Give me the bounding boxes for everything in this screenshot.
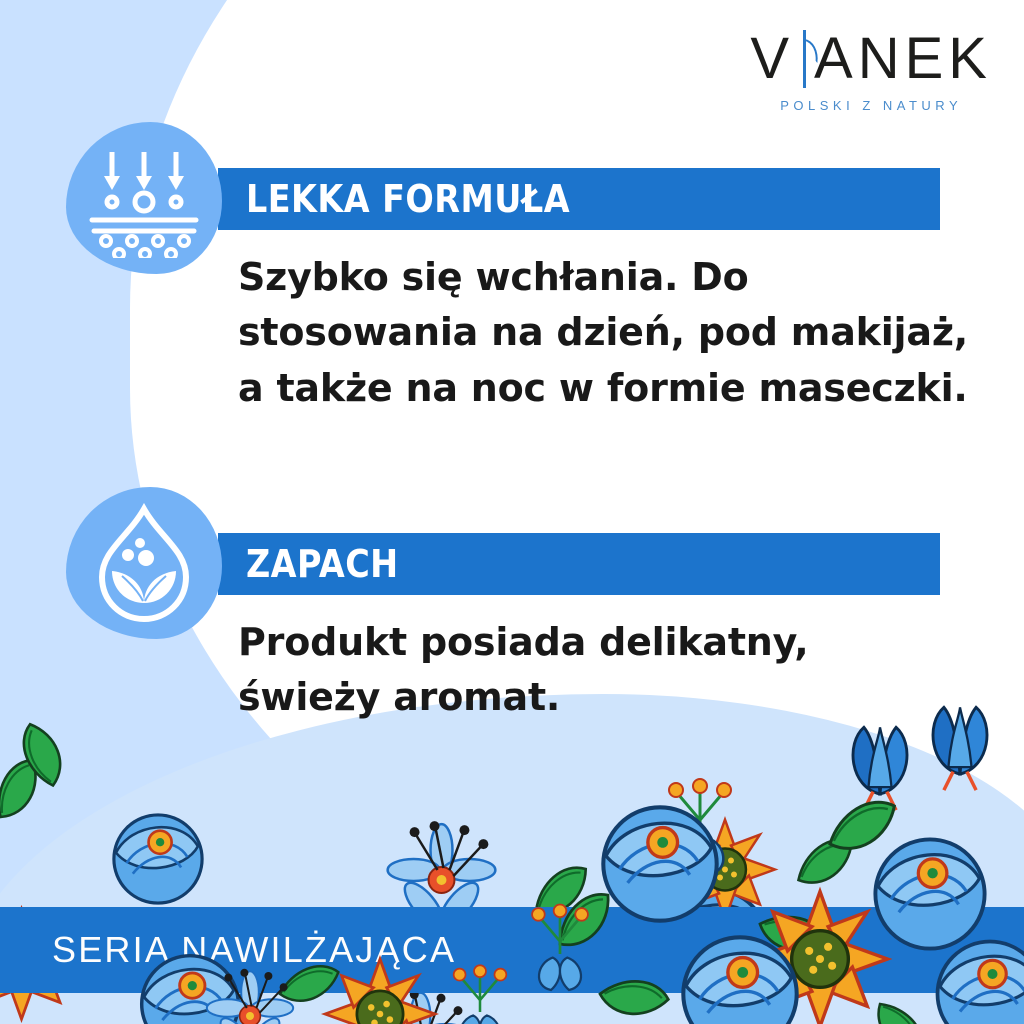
brand-logo: V ANEK POLSKI Z NATURY — [750, 30, 992, 113]
feature-icon-badge — [66, 487, 222, 639]
absorption-arrows-icon — [84, 138, 204, 258]
logo-text-anek: ANEK — [814, 30, 992, 88]
feature-title: LEKKA FORMUŁA — [246, 177, 570, 221]
feature-description: Szybko się wchłania. Do stosowania na dz… — [238, 250, 978, 416]
water-droplet-leaf-icon — [88, 503, 200, 623]
description-line: świeży aromat. — [238, 670, 978, 725]
logo-tagline: POLSKI Z NATURY — [750, 98, 992, 113]
series-label: SERIA NAWILŻAJĄCA — [52, 929, 456, 971]
feature-description: Produkt posiada delikatny, świeży aromat… — [238, 615, 978, 726]
feature-banner: LEKKA FORMUŁA — [218, 168, 940, 230]
description-line: a także na noc w formie maseczki. — [238, 361, 978, 416]
description-line: Szybko się wchłania. Do — [238, 250, 978, 305]
feature-icon-badge — [66, 122, 222, 274]
description-line: Produkt posiada delikatny, — [238, 615, 978, 670]
promo-card: V ANEK POLSKI Z NATURY LEKKA FORMUŁA — [0, 0, 1024, 1024]
leaf-i-icon — [794, 30, 814, 88]
logo-text-v: V — [750, 30, 794, 88]
feature-title: ZAPACH — [246, 542, 399, 586]
feature-banner: ZAPACH — [218, 533, 940, 595]
description-line: stosowania na dzień, pod makijaż, — [238, 305, 978, 360]
series-footer-banner: SERIA NAWILŻAJĄCA — [0, 907, 1024, 993]
logo-wordmark: V ANEK — [750, 30, 992, 88]
